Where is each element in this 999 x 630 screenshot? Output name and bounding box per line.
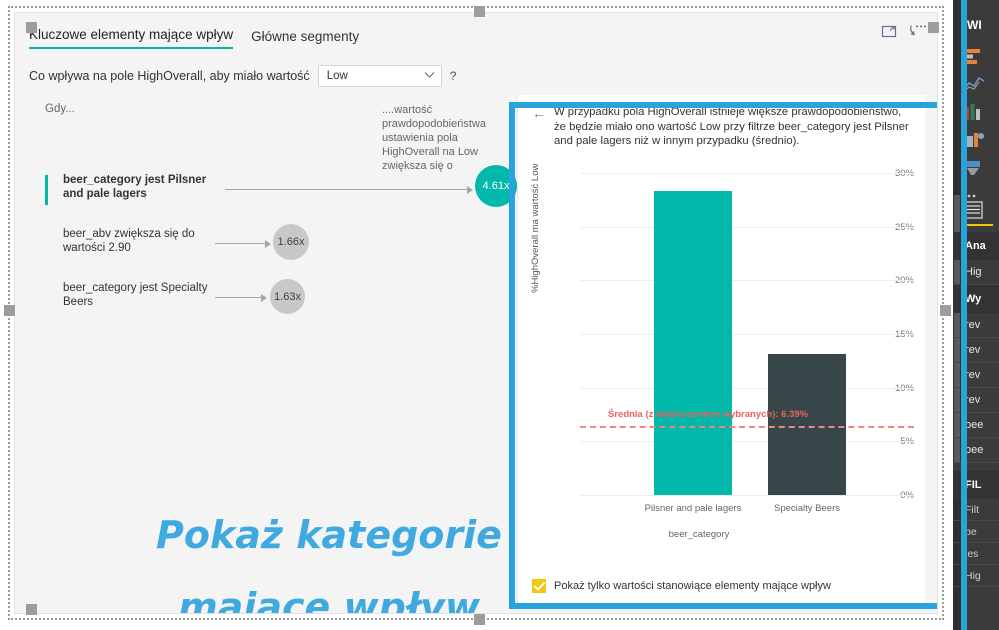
column-header-probability: ....wartość prawdopodobieństwa ustawieni… (382, 103, 507, 173)
gridline (580, 495, 914, 496)
checkbox-label: Pokaż tylko wartości stanowiące elementy… (554, 580, 831, 592)
gridline (580, 227, 914, 228)
influencer-bar-chart: %HighOverall ma wartość Low 30% 25% 20% … (532, 173, 914, 563)
sidebar-section-explain-by[interactable]: Wy (953, 285, 999, 313)
sidebar-separator (953, 463, 999, 471)
analysis-value-dropdown[interactable]: Low (318, 65, 442, 87)
influencer-arrow (225, 185, 473, 195)
sidebar-field-review-3[interactable]: rev (953, 363, 999, 388)
detail-header: ← W przypadku pola HighOverall istnieje … (532, 105, 914, 149)
sidebar-field-beer-2[interactable]: bee (953, 438, 999, 463)
fields-pane-icon[interactable] (963, 200, 999, 226)
x-tick-label: Specialty Beers (756, 503, 858, 515)
show-only-influential-checkbox[interactable]: Pokaż tylko wartości stanowiące elementy… (532, 579, 831, 593)
screen-root: Kluczowe elementy mające wpływ Główne se… (0, 0, 999, 630)
more-options-icon[interactable] (908, 23, 927, 40)
influencer-detail-pane: ← W przypadku pola HighOverall istnieje … (517, 95, 925, 603)
visual-tabs: Kluczowe elementy mające wpływ Główne se… (29, 27, 359, 49)
influencer-arrow (215, 293, 267, 303)
sidebar-section-analyze[interactable]: Ana (953, 232, 999, 260)
influencers-pane: Gdy... ....wartość prawdopodobieństwa us… (29, 95, 511, 603)
resize-handle-bottom-left[interactable] (26, 604, 37, 615)
gridline (580, 173, 914, 174)
sidebar-filter-entry-3[interactable]: Hig (953, 565, 999, 587)
visual-type-gallery (963, 44, 999, 212)
gridline (580, 334, 914, 335)
sidebar-field-review-2[interactable]: rev (953, 338, 999, 363)
bar-pilsner-and-pale-lagers[interactable] (654, 191, 732, 495)
x-axis-title: beer_category (532, 529, 866, 540)
question-row: Co wpływa na pole HighOverall, aby miało… (29, 65, 456, 87)
gridline (580, 388, 914, 389)
tab-key-influencers[interactable]: Kluczowe elementy mające wpływ (29, 27, 233, 49)
bar-specialty-beers[interactable] (768, 354, 846, 495)
sidebar-field-review-4[interactable]: rev (953, 388, 999, 413)
average-line-label: Średnia (z wykluczeniem wybranych): 6.39… (608, 409, 808, 420)
influencer-arrow (215, 239, 271, 249)
influencer-label: beer_abv zwiększa się do wartości 2.90 (63, 227, 223, 255)
y-axis-title: %HighOverall ma wartość Low (530, 164, 541, 293)
back-arrow-icon[interactable]: ← (532, 105, 546, 149)
visualizations-pane: WI (953, 0, 999, 630)
focus-mode-icon[interactable] (881, 23, 898, 40)
help-icon[interactable]: ? (450, 69, 457, 83)
visualizations-pane-title: WI (967, 18, 982, 32)
resize-handle-left-middle[interactable] (4, 305, 15, 316)
gridline (580, 280, 914, 281)
resize-handle-bottom-center[interactable] (474, 614, 485, 625)
gridline (580, 441, 914, 442)
checkbox-checked-icon (532, 579, 546, 593)
selected-indicator (45, 175, 48, 205)
sidebar-field-highoverall[interactable]: Hig (953, 260, 999, 285)
influencer-bubble[interactable]: 1.66x (273, 224, 309, 260)
influencer-row[interactable]: beer_category jest Specialty Beers 1.63x (29, 281, 511, 321)
column-header-when: Gdy... (45, 103, 75, 115)
sidebar-section-filters[interactable]: FIL (953, 471, 999, 499)
plot-area: Średnia (z wykluczeniem wybranych): 6.39… (580, 173, 914, 495)
sidebar-field-beer-1[interactable]: bee (953, 413, 999, 438)
question-label: Co wpływa na pole HighOverall, aby miało… (29, 69, 310, 83)
tab-top-segments[interactable]: Główne segmenty (251, 29, 359, 49)
influencer-label: beer_category jest Pilsner and pale lage… (63, 173, 223, 201)
resize-handle-top-left[interactable] (26, 22, 37, 33)
visual-body: Gdy... ....wartość prawdopodobieństwa us… (29, 95, 925, 603)
x-tick-label: Pilsner and pale lagers (642, 503, 744, 515)
chevron-down-icon (424, 71, 435, 82)
average-line (580, 426, 914, 428)
influencer-row[interactable]: beer_abv zwiększa się do wartości 2.90 1… (29, 227, 511, 267)
detail-description: W przypadku pola HighOverall istnieje wi… (554, 105, 914, 149)
sidebar-filter-subtitle[interactable]: Filt (953, 499, 999, 521)
resize-handle-right-middle[interactable] (940, 305, 951, 316)
influencer-label: beer_category jest Specialty Beers (63, 281, 223, 309)
influencer-bubble[interactable]: 4.61x (475, 165, 517, 207)
dropdown-selected-value: Low (327, 70, 348, 82)
resize-handle-top-right[interactable] (928, 22, 939, 33)
sidebar-filter-entry-2[interactable]: jes (953, 543, 999, 565)
influencer-bubble[interactable]: 1.63x (270, 279, 305, 314)
resize-handle-top-center[interactable] (474, 6, 485, 17)
visual-header-icons (881, 23, 927, 40)
key-influencers-visual: Kluczowe elementy mające wpływ Główne se… (14, 12, 938, 614)
fields-list: Ana Hig Wy rev rev rev rev bee bee FIL F… (953, 232, 999, 587)
sidebar-filter-entry-1[interactable]: be (953, 521, 999, 543)
active-tab-underline (963, 224, 993, 226)
sidebar-field-review-1[interactable]: rev (953, 313, 999, 338)
highlight-rectangle-edge (961, 0, 967, 630)
influencer-row[interactable]: beer_category jest Pilsner and pale lage… (29, 173, 511, 213)
